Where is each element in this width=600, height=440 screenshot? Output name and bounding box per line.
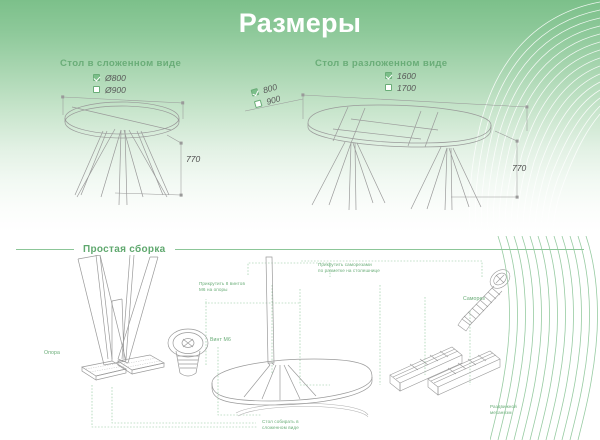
assembly-heading: Простая сборка [74, 244, 175, 255]
label-support: Опора [44, 350, 60, 357]
page-title: Размеры [0, 8, 600, 39]
label-screw: Саморез [463, 296, 485, 303]
dimension-height-folded: 770 [186, 154, 200, 164]
label-mechanism: Раздвижной механизм [490, 404, 517, 416]
option-row[interactable]: 1600 [385, 70, 416, 81]
label-note-folded: Стол собирать в сложенном виде [262, 419, 299, 431]
label-step-bolts: Прикрутить 8 винтов М6 на опоры [199, 281, 245, 293]
drawing-unfolded-table [245, 85, 545, 210]
drawing-folded-table [55, 85, 245, 205]
label-step-screws: Прикрутить саморезами по разметке на сто… [318, 262, 380, 274]
divider-right [175, 249, 585, 250]
dimension-height-unfolded: 770 [512, 163, 526, 173]
divider-left [16, 249, 74, 250]
option-label: 1600 [397, 71, 416, 81]
checkbox-checked-icon[interactable] [93, 74, 100, 81]
poster-root: Размеры Стол в сложенном виде Ø800 Ø900 [0, 0, 600, 440]
label-bolt: Винт М6 [210, 337, 231, 344]
checkbox-checked-icon[interactable] [385, 72, 392, 79]
section-heading-unfolded: Стол в разложенном виде [315, 58, 447, 69]
option-label: Ø800 [105, 73, 126, 83]
option-row[interactable]: Ø800 [93, 72, 126, 83]
section-heading-folded: Стол в сложенном виде [60, 58, 181, 69]
